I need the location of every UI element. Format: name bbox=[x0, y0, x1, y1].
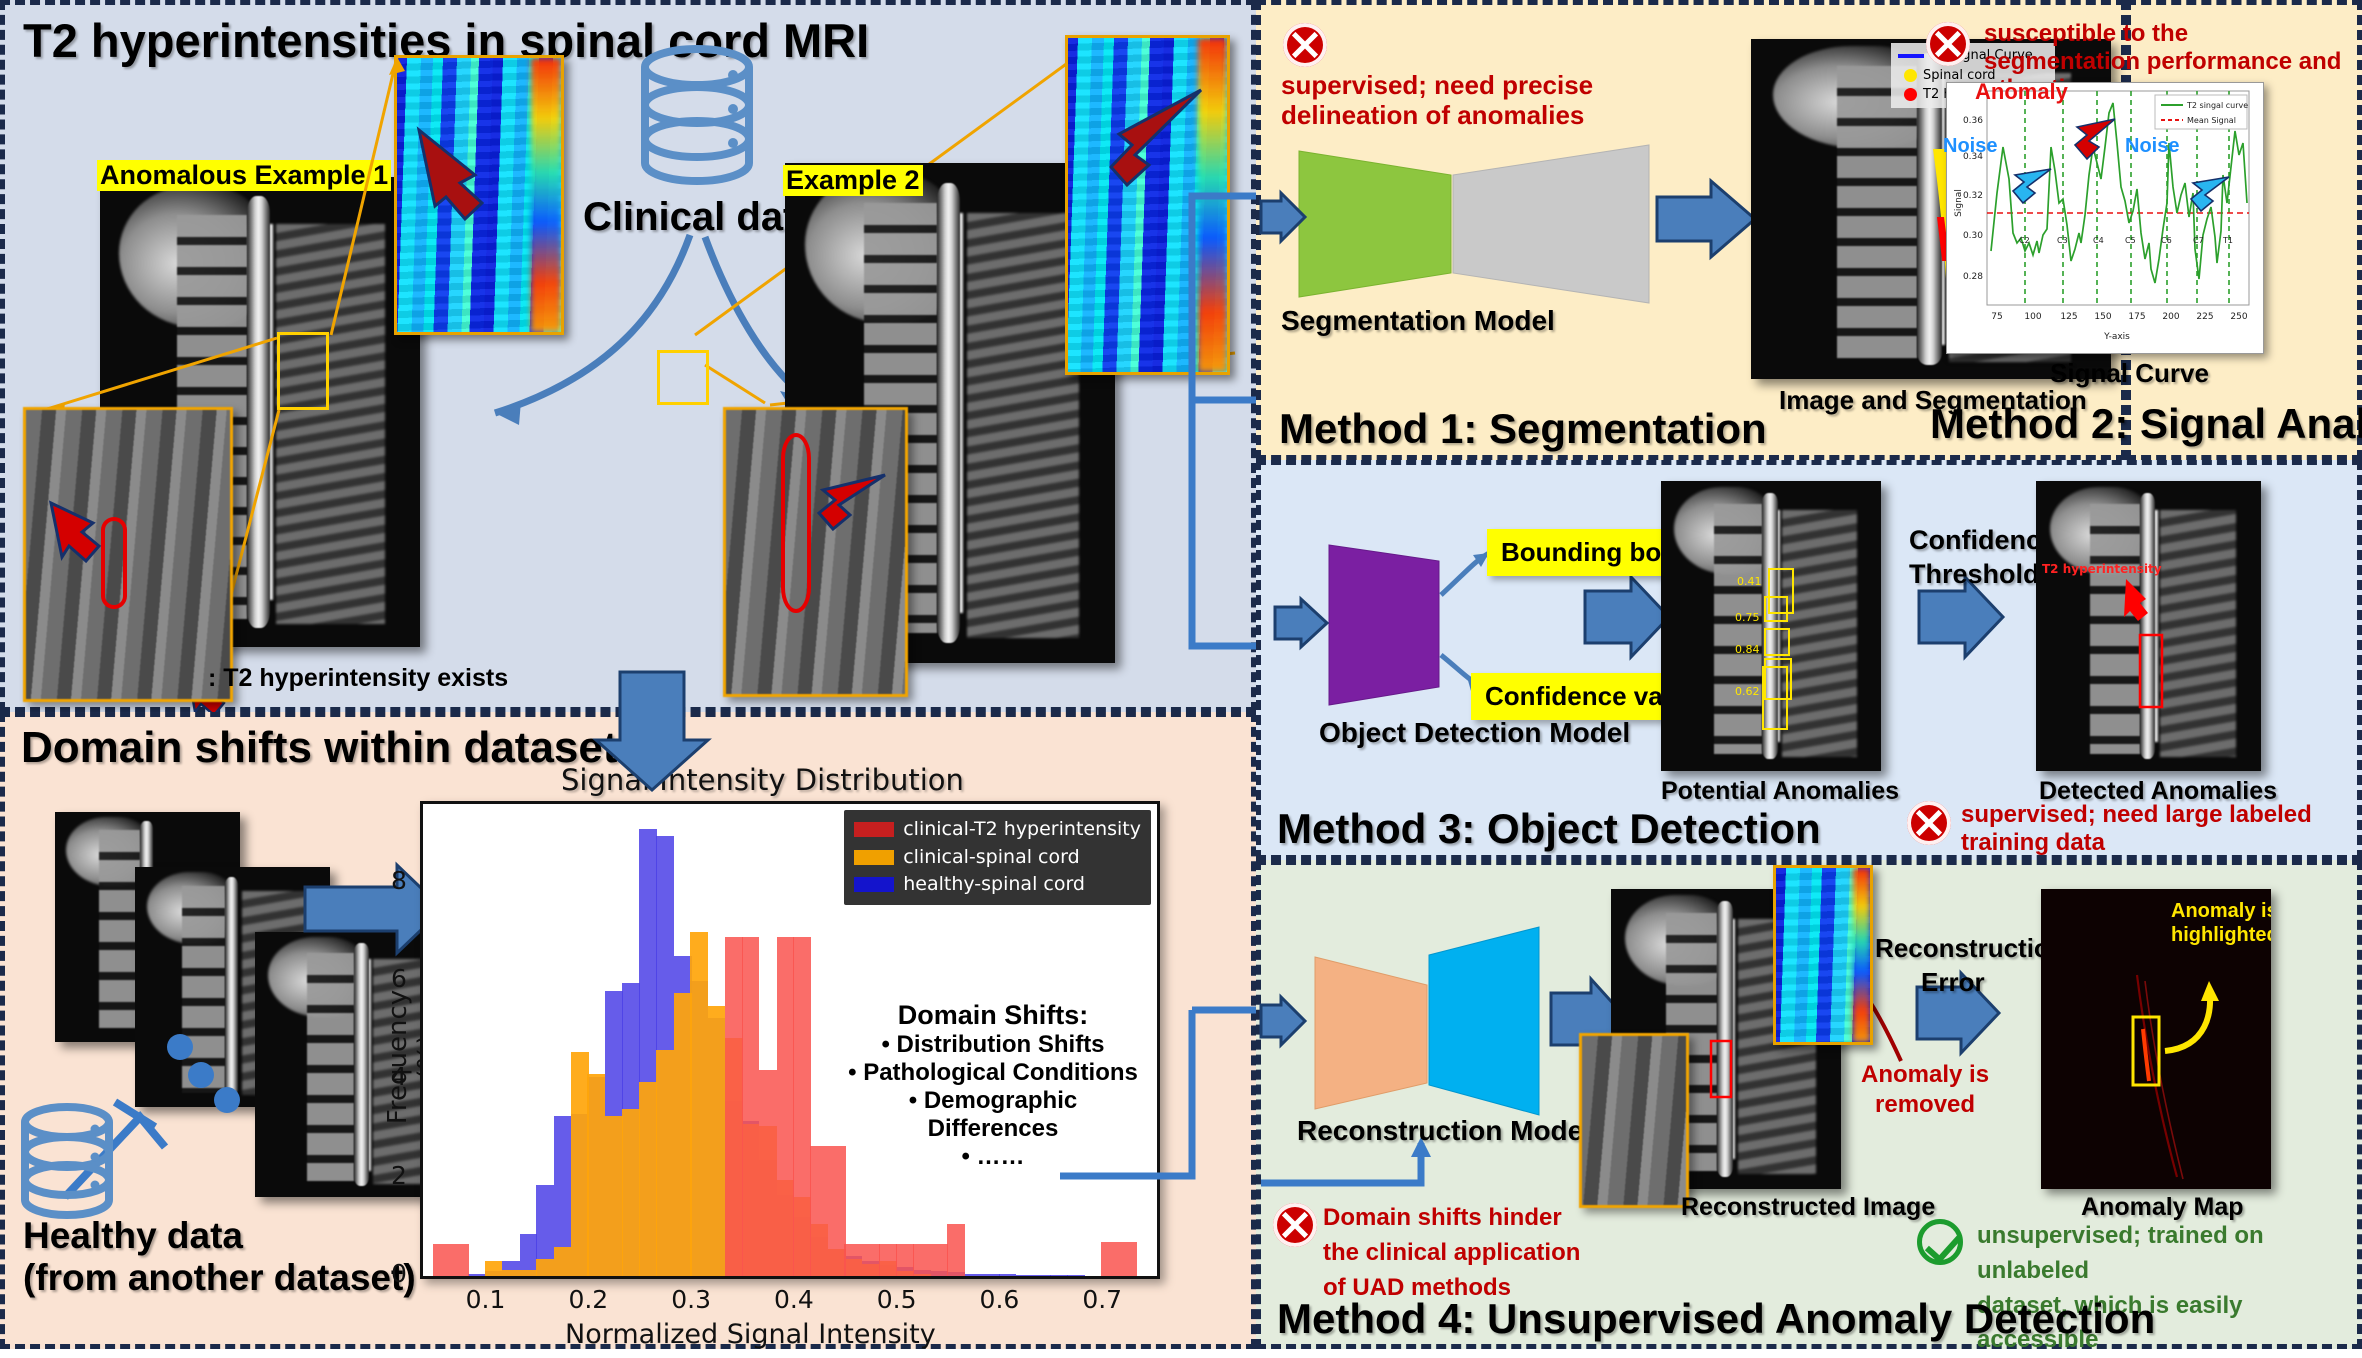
legend-arrow-label: : T2 hyperintensity exists bbox=[208, 664, 508, 693]
roi-box-example-1 bbox=[277, 332, 329, 410]
panel-method-4: Reconstruction Model Reconstructed Image… bbox=[1256, 860, 2362, 1349]
domain-shift-item-0: • Distribution Shifts bbox=[843, 1031, 1143, 1059]
x-tick-label: 0.2 bbox=[568, 1285, 608, 1314]
label-example-2: Example 2 bbox=[783, 165, 923, 196]
method1-title: Method 1: Segmentation bbox=[1279, 405, 1767, 453]
heatmap-example-2 bbox=[1065, 35, 1230, 375]
reconstruction-error-label-1: Reconstruction bbox=[1875, 933, 2066, 964]
svg-text:Mean Signal: Mean Signal bbox=[2187, 116, 2236, 125]
svg-text:250: 250 bbox=[2230, 312, 2247, 322]
svg-text:Y-axis: Y-axis bbox=[2103, 332, 2130, 342]
svg-text:225: 225 bbox=[2196, 312, 2213, 322]
histogram-bar bbox=[947, 1224, 965, 1276]
y-tick-label: 6 bbox=[391, 964, 407, 993]
svg-text:0.28: 0.28 bbox=[1963, 272, 1983, 282]
panel-domain-shifts: Domain shifts within datasets Healthy da… bbox=[0, 712, 1256, 1349]
x-tick-label: 0.4 bbox=[774, 1285, 814, 1314]
legend-swatch-1 bbox=[854, 850, 894, 865]
histogram-bar bbox=[913, 1244, 931, 1276]
panel-clinical-overview: T2 hyperintensities in spinal cord MRI A… bbox=[0, 0, 1256, 712]
legend-swatch-0 bbox=[854, 822, 894, 837]
histogram-bar bbox=[999, 1274, 1017, 1276]
reconstructed-image-caption: Reconstructed Image bbox=[1681, 1193, 1935, 1222]
clinical-data-label: Clinical data bbox=[583, 195, 819, 240]
legend-swatch-2 bbox=[854, 877, 894, 892]
legend-item-0: clinical-T2 hyperintensity bbox=[854, 816, 1141, 844]
noise-annotation-left: Noise bbox=[1943, 135, 1997, 158]
domain-shift-item-2: • Demographic Differences bbox=[843, 1087, 1143, 1143]
potential-anomalies-image: 0.410.75 0.840.62 bbox=[1661, 481, 1881, 771]
signal-intensity-histogram: clinical-T2 hyperintensity clinical-spin… bbox=[420, 801, 1160, 1279]
chart-title: Signal Intensity Distribution bbox=[561, 763, 964, 797]
segmentation-model-label: Segmentation Model bbox=[1281, 305, 1555, 337]
histogram-bar bbox=[879, 1244, 897, 1276]
histogram-bar bbox=[536, 1259, 554, 1276]
svg-text:75: 75 bbox=[1991, 312, 2002, 322]
method4-title: Method 4: Unsupervised Anomaly Detection bbox=[1277, 1295, 2155, 1343]
method3-title: Method 3: Object Detection bbox=[1277, 805, 1821, 853]
svg-text:C4: C4 bbox=[2093, 236, 2104, 245]
histogram-bar bbox=[1034, 1275, 1052, 1276]
histogram-bar bbox=[1119, 1242, 1137, 1276]
svg-text:200: 200 bbox=[2162, 312, 2179, 322]
anomaly-removed-label-1: Anomaly is bbox=[1861, 1061, 1989, 1089]
noise-annotation-right: Noise bbox=[2125, 135, 2179, 158]
svg-text:150: 150 bbox=[2094, 312, 2111, 322]
cross-icon-method2 bbox=[1926, 22, 1970, 66]
histogram-bar bbox=[844, 1244, 862, 1276]
method1-warning: supervised; need precise delineation of … bbox=[1281, 71, 1701, 131]
cross-icon-method4 bbox=[1273, 1203, 1317, 1247]
histogram-bar bbox=[1050, 1275, 1068, 1276]
domain-shifts-heading: Domain Shifts: bbox=[843, 1000, 1143, 1031]
histogram-bar bbox=[451, 1244, 469, 1276]
histogram-bar bbox=[605, 1116, 623, 1276]
svg-text:0.36: 0.36 bbox=[1963, 116, 1983, 126]
svg-text:Signal: Signal bbox=[1954, 189, 1964, 217]
svg-text:C7: C7 bbox=[2193, 236, 2204, 245]
legend-label-2: healthy-spinal cord bbox=[903, 873, 1085, 895]
domain-shift-item-1: • Pathological Conditions bbox=[843, 1059, 1143, 1087]
method2-title: Method 2: Signal Analysis bbox=[1930, 400, 2362, 448]
histogram-bar bbox=[587, 1074, 605, 1276]
reconstructed-zoom-crop bbox=[1579, 1033, 1689, 1208]
histogram-bar bbox=[1101, 1242, 1119, 1276]
histogram-bar bbox=[1016, 1275, 1034, 1276]
histogram-bar bbox=[896, 1244, 914, 1276]
histogram-bar bbox=[502, 1270, 520, 1276]
histogram-bar bbox=[622, 1109, 640, 1276]
method-2-content: susceptible to the segmentation performa… bbox=[1900, 0, 2362, 460]
svg-text:C5: C5 bbox=[2125, 236, 2136, 245]
x-tick-label: 0.1 bbox=[466, 1285, 506, 1314]
histogram-bar bbox=[810, 1146, 828, 1276]
histogram-bar bbox=[520, 1270, 538, 1276]
histogram-bar bbox=[759, 1070, 777, 1277]
histogram-bar bbox=[485, 1261, 503, 1276]
svg-text:C3: C3 bbox=[2057, 236, 2068, 245]
m4-warn-2: the clinical application bbox=[1323, 1236, 1633, 1271]
x-tick-label: 0.3 bbox=[671, 1285, 711, 1314]
histogram-bar bbox=[656, 1050, 674, 1276]
histogram-bar bbox=[571, 1052, 589, 1276]
panel-b-title: Domain shifts within datasets bbox=[21, 723, 642, 773]
method3-warning: supervised; need large labeled training … bbox=[1961, 801, 2361, 856]
anomaly-removed-label-2: removed bbox=[1875, 1091, 1975, 1119]
signal-curve-plot: C2C3C4 C5C6C7 T1 0.280.30 0.320.340.36 7… bbox=[1946, 82, 2264, 354]
anomaly-map-caption: Anomaly Map bbox=[2081, 1193, 2244, 1222]
x-tick-label: 0.6 bbox=[980, 1285, 1020, 1314]
x-tick-label: 0.7 bbox=[1082, 1285, 1122, 1314]
zoom-crop-example-2 bbox=[723, 407, 908, 697]
histogram-bar bbox=[674, 993, 692, 1276]
y-tick-label: 0 bbox=[391, 1259, 407, 1288]
histogram-bar bbox=[708, 1006, 726, 1276]
histogram-bar bbox=[965, 1274, 983, 1276]
histogram-bar bbox=[1067, 1275, 1085, 1276]
histogram-bar bbox=[554, 1247, 572, 1277]
anomaly-highlighted-label-1: Anomaly is bbox=[2171, 899, 2271, 923]
chart-legend: clinical-T2 hyperintensity clinical-spin… bbox=[844, 810, 1151, 905]
confidence-threshold-label-2: Threshold bbox=[1909, 559, 2040, 590]
heatmap-example-1 bbox=[394, 55, 564, 335]
reconstruction-error-heatmap bbox=[1773, 865, 1873, 1045]
svg-text:T1: T1 bbox=[2222, 236, 2233, 245]
y-tick-label: 2 bbox=[391, 1161, 407, 1190]
anomaly-annotation: Anomaly bbox=[1975, 79, 2068, 105]
legend-label-0: clinical-T2 hyperintensity bbox=[903, 818, 1141, 840]
check-icon-method4 bbox=[1917, 1219, 1963, 1265]
histogram-bar bbox=[777, 937, 795, 1276]
cross-icon-method1 bbox=[1283, 23, 1327, 67]
legend-label-1: clinical-spinal cord bbox=[903, 846, 1079, 868]
lesion-outline-2 bbox=[781, 433, 811, 613]
svg-text:C6: C6 bbox=[2161, 236, 2172, 245]
legend-item-2: healthy-spinal cord bbox=[854, 871, 1141, 899]
anomaly-highlighted-label-2: highlighted bbox=[2171, 923, 2271, 947]
healthy-data-label-1: Healthy data bbox=[23, 1215, 243, 1257]
m4-warn-1: Domain shifts hinder bbox=[1323, 1201, 1633, 1236]
y-tick-label: 8 bbox=[391, 866, 407, 895]
reconstruction-error-label-2: Error bbox=[1921, 967, 1985, 998]
reconstruction-model-label: Reconstruction Model bbox=[1297, 1115, 1591, 1147]
confidence-threshold-label-1: Confidence bbox=[1909, 525, 2056, 556]
roi-box-example-2 bbox=[657, 350, 709, 405]
y-tick-label: 4 bbox=[391, 1062, 407, 1091]
svg-text:0.32: 0.32 bbox=[1963, 191, 1983, 201]
histogram-bar bbox=[793, 937, 811, 1276]
healthy-data-label-2: (from another dataset) bbox=[23, 1257, 416, 1299]
lesion-outline-1 bbox=[101, 517, 127, 609]
zoom-crop-example-1 bbox=[23, 407, 233, 702]
label-anomalous-example-1: Anomalous Example 1 bbox=[97, 160, 391, 191]
cross-icon-method3 bbox=[1907, 801, 1951, 845]
histogram-bar bbox=[690, 932, 708, 1276]
svg-text:125: 125 bbox=[2060, 312, 2077, 322]
detected-anomalies-image: T2 hyperintensity bbox=[2036, 481, 2261, 771]
legend-item-1: clinical-spinal cord bbox=[854, 844, 1141, 872]
panel-method-3: Bounding box Confidence value Object Det… bbox=[1256, 460, 2362, 860]
svg-text:175: 175 bbox=[2128, 312, 2145, 322]
svg-text:100: 100 bbox=[2024, 312, 2041, 322]
svg-text:T2 singal curve: T2 singal curve bbox=[2186, 101, 2248, 110]
domain-shift-item-3: • …… bbox=[843, 1143, 1143, 1171]
potential-anomalies-caption: Potential Anomalies bbox=[1661, 777, 1899, 806]
method2-image-caption: Signal Curve bbox=[2050, 358, 2209, 389]
histogram-bar bbox=[639, 1082, 657, 1276]
anomaly-map: Anomaly is highlighted bbox=[2041, 889, 2271, 1189]
x-tick-label: 0.5 bbox=[877, 1285, 917, 1314]
histogram-bar bbox=[468, 1274, 486, 1276]
object-detection-model-label: Object Detection Model bbox=[1319, 717, 1630, 749]
histogram-bar bbox=[931, 1244, 949, 1276]
histogram-bar bbox=[742, 937, 760, 1276]
m4-good-1: unsupervised; trained on unlabeled bbox=[1977, 1219, 2362, 1289]
method4-warning: Domain shifts hinder the clinical applic… bbox=[1323, 1201, 1633, 1305]
histogram-bar bbox=[433, 1244, 451, 1276]
histogram-bar bbox=[725, 937, 743, 1276]
svg-text:C2: C2 bbox=[2019, 236, 2030, 245]
svg-text:0.30: 0.30 bbox=[1963, 231, 1983, 241]
bounding-box-output: Bounding box bbox=[1487, 529, 1690, 576]
histogram-bar bbox=[862, 1244, 880, 1276]
chart-xlabel: Normalized Signal Intensity bbox=[565, 1319, 936, 1350]
histogram-bar bbox=[982, 1274, 1000, 1276]
signal-curve-svg: C2C3C4 C5C6C7 T1 0.280.30 0.320.340.36 7… bbox=[1947, 83, 2265, 355]
